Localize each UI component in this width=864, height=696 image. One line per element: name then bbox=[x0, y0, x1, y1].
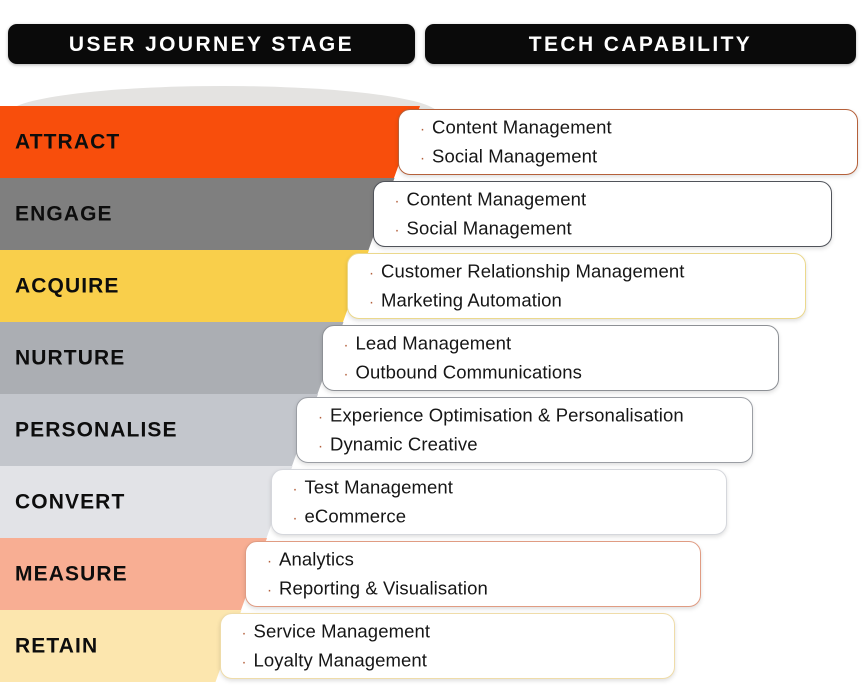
capability-label: Lead Management bbox=[356, 329, 512, 358]
stage-label: NURTURE bbox=[15, 348, 125, 369]
bullet-icon: · bbox=[318, 438, 330, 453]
capability-label: Content Management bbox=[407, 185, 587, 214]
funnel-diagram: ATTRACT·Content Management·Social Manage… bbox=[0, 86, 864, 686]
capability-label: Content Management bbox=[432, 113, 612, 142]
funnel-row: PERSONALISE·Experience Optimisation & Pe… bbox=[0, 394, 864, 466]
bullet-icon: · bbox=[242, 625, 254, 640]
capability-label: Test Management bbox=[305, 473, 454, 502]
stage-label: CONVERT bbox=[15, 492, 125, 513]
capability-list: ·Service Management·Loyalty Management bbox=[242, 617, 431, 674]
bullet-icon: · bbox=[420, 121, 432, 136]
capability-item: ·Lead Management bbox=[344, 329, 582, 358]
funnel-row: ENGAGE·Content Management·Social Managem… bbox=[0, 178, 864, 250]
capability-label: Social Management bbox=[432, 142, 597, 171]
bullet-icon: · bbox=[267, 582, 279, 597]
capability-item: ·Service Management bbox=[242, 617, 431, 646]
capability-item: ·Dynamic Creative bbox=[318, 430, 684, 459]
funnel-row: ATTRACT·Content Management·Social Manage… bbox=[0, 106, 864, 178]
capability-label: Customer Relationship Management bbox=[381, 257, 684, 286]
capability-label: Service Management bbox=[254, 617, 431, 646]
bullet-icon: · bbox=[344, 337, 356, 352]
bullet-icon: · bbox=[369, 265, 381, 280]
stage-label: ACQUIRE bbox=[15, 276, 120, 297]
capability-label: Dynamic Creative bbox=[330, 430, 478, 459]
bullet-icon: · bbox=[318, 409, 330, 424]
capability-item: ·Test Management bbox=[293, 473, 454, 502]
capability-item: ·Outbound Communications bbox=[344, 358, 582, 387]
capability-item: ·Social Management bbox=[420, 142, 612, 171]
bullet-icon: · bbox=[369, 294, 381, 309]
capability-item: ·Customer Relationship Management bbox=[369, 257, 684, 286]
capability-list: ·Analytics·Reporting & Visualisation bbox=[267, 545, 488, 602]
bullet-icon: · bbox=[420, 150, 432, 165]
stage-label: PERSONALISE bbox=[15, 420, 178, 441]
bullet-icon: · bbox=[344, 366, 356, 381]
capability-item: ·Reporting & Visualisation bbox=[267, 574, 488, 603]
stage-label: ENGAGE bbox=[15, 204, 113, 225]
funnel-row: MEASURE·Analytics·Reporting & Visualisat… bbox=[0, 538, 864, 610]
capability-label: Outbound Communications bbox=[356, 358, 582, 387]
header-row: USER JOURNEY STAGE TECH CAPABILITY bbox=[0, 24, 864, 64]
capability-item: ·Marketing Automation bbox=[369, 286, 684, 315]
capability-item: ·Social Management bbox=[395, 214, 587, 243]
stage-label: MEASURE bbox=[15, 564, 128, 585]
capability-list: ·Experience Optimisation & Personalisati… bbox=[318, 401, 684, 458]
capability-item: ·Loyalty Management bbox=[242, 646, 431, 675]
capability-item: ·eCommerce bbox=[293, 502, 454, 531]
capability-list: ·Customer Relationship Management·Market… bbox=[369, 257, 684, 314]
capability-list: ·Content Management·Social Management bbox=[420, 113, 612, 170]
funnel-row: NURTURE·Lead Management·Outbound Communi… bbox=[0, 322, 864, 394]
header-pill-user-journey-stage: USER JOURNEY STAGE bbox=[8, 24, 415, 64]
capability-label: Social Management bbox=[407, 214, 572, 243]
bullet-icon: · bbox=[293, 481, 305, 496]
header-label-tech-capability: TECH CAPABILITY bbox=[529, 34, 752, 55]
capability-label: Analytics bbox=[279, 545, 354, 574]
capability-list: ·Test Management·eCommerce bbox=[293, 473, 454, 530]
capability-label: Marketing Automation bbox=[381, 286, 562, 315]
stage-label: RETAIN bbox=[15, 636, 98, 657]
capability-label: eCommerce bbox=[305, 502, 407, 531]
capability-item: ·Content Management bbox=[395, 185, 587, 214]
bullet-icon: · bbox=[395, 193, 407, 208]
capability-label: Reporting & Visualisation bbox=[279, 574, 488, 603]
bullet-icon: · bbox=[267, 553, 279, 568]
capability-item: ·Experience Optimisation & Personalisati… bbox=[318, 401, 684, 430]
stage-label: ATTRACT bbox=[15, 132, 120, 153]
funnel-row: ACQUIRE·Customer Relationship Management… bbox=[0, 250, 864, 322]
capability-item: ·Analytics bbox=[267, 545, 488, 574]
capability-list: ·Lead Management·Outbound Communications bbox=[344, 329, 582, 386]
funnel-row: CONVERT·Test Management·eCommerce bbox=[0, 466, 864, 538]
bullet-icon: · bbox=[242, 654, 254, 669]
capability-label: Experience Optimisation & Personalisatio… bbox=[330, 401, 684, 430]
funnel-row: RETAIN·Service Management·Loyalty Manage… bbox=[0, 610, 864, 682]
capability-list: ·Content Management·Social Management bbox=[395, 185, 587, 242]
capability-label: Loyalty Management bbox=[254, 646, 428, 675]
bullet-icon: · bbox=[293, 510, 305, 525]
capability-item: ·Content Management bbox=[420, 113, 612, 142]
header-label-user-journey-stage: USER JOURNEY STAGE bbox=[69, 34, 354, 55]
header-pill-tech-capability: TECH CAPABILITY bbox=[425, 24, 856, 64]
bullet-icon: · bbox=[395, 222, 407, 237]
